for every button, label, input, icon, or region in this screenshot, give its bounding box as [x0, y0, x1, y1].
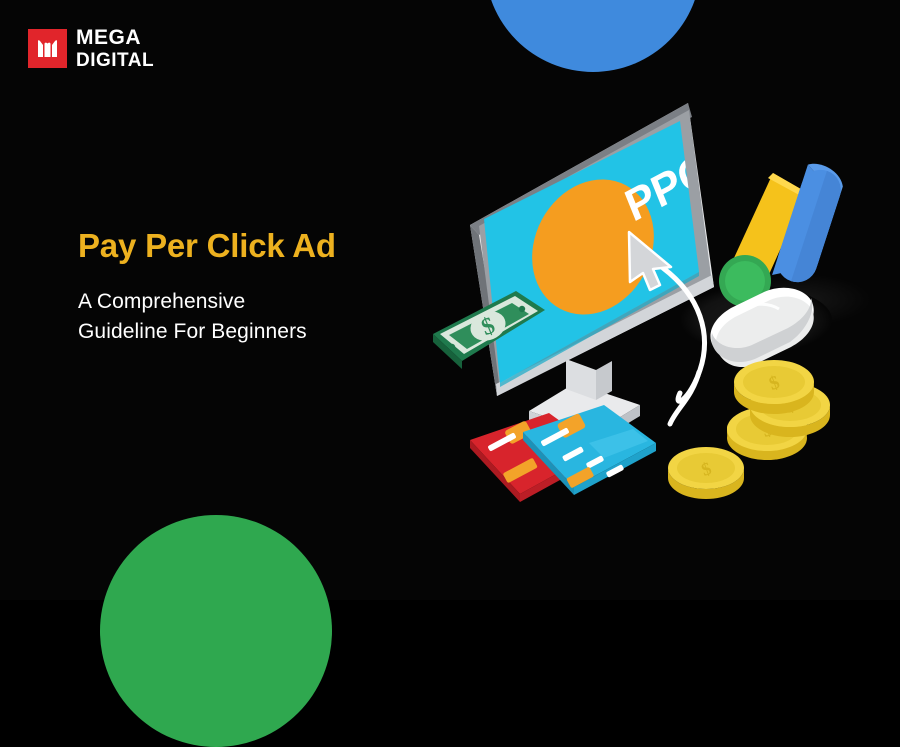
coin-symbol: $: [766, 372, 782, 395]
page-subtitle-line-1: A Comprehensive: [78, 287, 336, 317]
dollar-banknote: $: [433, 291, 545, 369]
page-title: Pay Per Click Ad: [78, 228, 336, 265]
monitor-stand-base: [529, 383, 640, 433]
page-subtitle: A Comprehensive Guideline For Beginners: [78, 287, 336, 348]
monitor-screen: [484, 121, 699, 383]
brand-line-1: MEGA: [76, 27, 154, 48]
single-coin: $: [668, 447, 744, 499]
google-ads-logo: [719, 161, 847, 307]
svg-text:$: $: [759, 419, 775, 442]
ppc-label: PPC: [619, 144, 717, 232]
mouse-cable-2: [670, 372, 699, 424]
coin-stack: $ $ $: [727, 360, 830, 460]
headline-block: Pay Per Click Ad A Comprehensive Guideli…: [78, 228, 336, 348]
brand-line-2: DIGITAL: [76, 51, 154, 70]
google-ads-shadow: [730, 274, 870, 326]
ppc-badge: [509, 158, 677, 336]
mouse-shadow: [680, 286, 832, 354]
monitor-stand-neck: [566, 359, 596, 400]
mega-digital-m-monogram-icon: [28, 29, 67, 68]
monitor-bezel: [470, 103, 692, 235]
banknote-portrait: [466, 306, 510, 345]
monitor-chassis: [470, 103, 714, 396]
mouse-cursor-icon: [629, 232, 671, 290]
svg-text:$: $: [699, 458, 714, 480]
banknote-symbol: $: [478, 313, 499, 342]
mouse-cable: [663, 268, 704, 401]
credit-card-back: [470, 413, 600, 502]
computer-mouse: [710, 288, 813, 367]
blue-decorative-circle: [485, 0, 701, 72]
desktop-monitor: PPC: [470, 103, 717, 444]
svg-text:$: $: [782, 395, 798, 418]
brand-wordmark: MEGA DIGITAL: [76, 27, 154, 70]
credit-card-front: [523, 405, 656, 495]
green-decorative-circle: [100, 515, 332, 747]
brand-logo[interactable]: MEGA DIGITAL: [28, 27, 154, 70]
page-subtitle-line-2: Guideline For Beginners: [78, 317, 336, 347]
